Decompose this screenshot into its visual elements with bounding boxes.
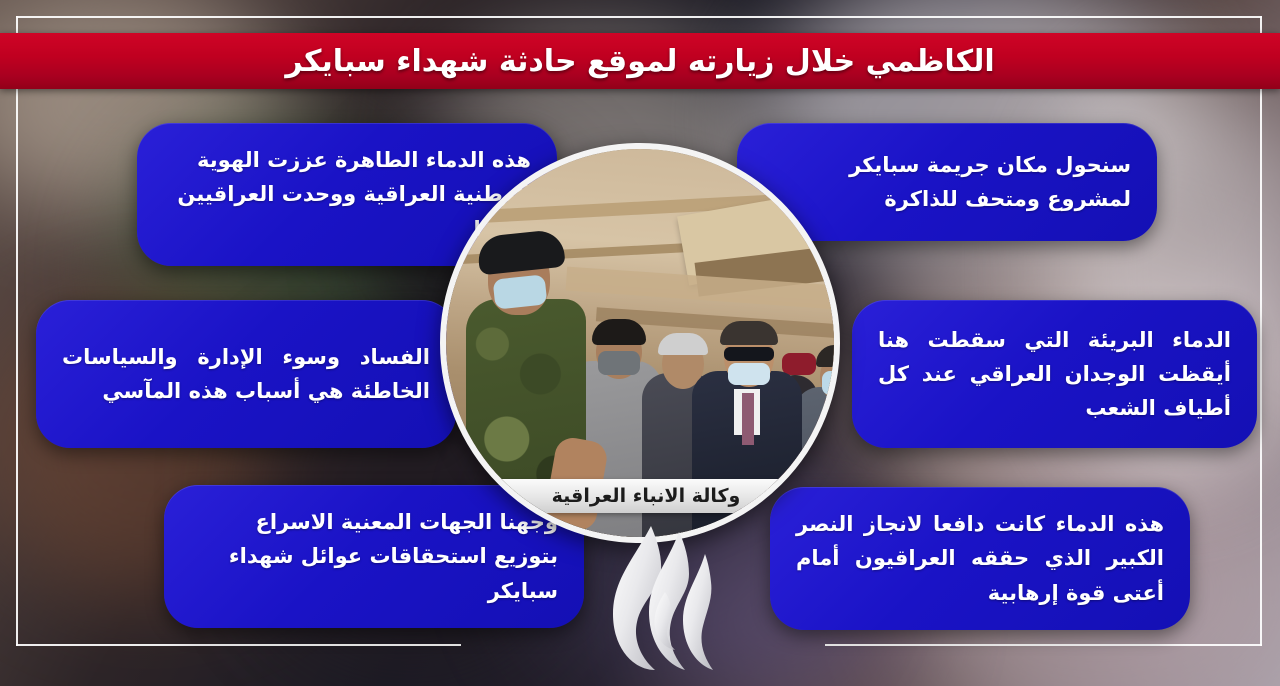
quote-bubble-middle-left: الفساد وسوء الإدارة والسياسات الخاطئة هي…	[36, 300, 456, 448]
infographic-canvas: الكاظمي خلال زيارته لموقع حادثة شهداء سب…	[0, 0, 1280, 686]
quote-text: الدماء البريئة التي سقطت هنا أيقظت الوجد…	[878, 323, 1231, 425]
quote-text: الفساد وسوء الإدارة والسياسات الخاطئة هي…	[62, 340, 430, 408]
page-title: الكاظمي خلال زيارته لموقع حادثة شهداء سب…	[285, 44, 994, 79]
photo-caption-bar: وكالة الانباء العراقية	[470, 479, 822, 513]
central-circular-photo: وكالة الانباء العراقية	[440, 143, 840, 543]
quote-text: هذه الدماء كانت دافعا لانجاز النصر الكبي…	[796, 507, 1164, 609]
quote-bubble-middle-right: الدماء البريئة التي سقطت هنا أيقظت الوجد…	[852, 300, 1257, 448]
ina-flame-logo	[593, 518, 733, 678]
agency-name: وكالة الانباء العراقية	[552, 485, 741, 507]
headline-banner: الكاظمي خلال زيارته لموقع حادثة شهداء سب…	[0, 33, 1280, 89]
